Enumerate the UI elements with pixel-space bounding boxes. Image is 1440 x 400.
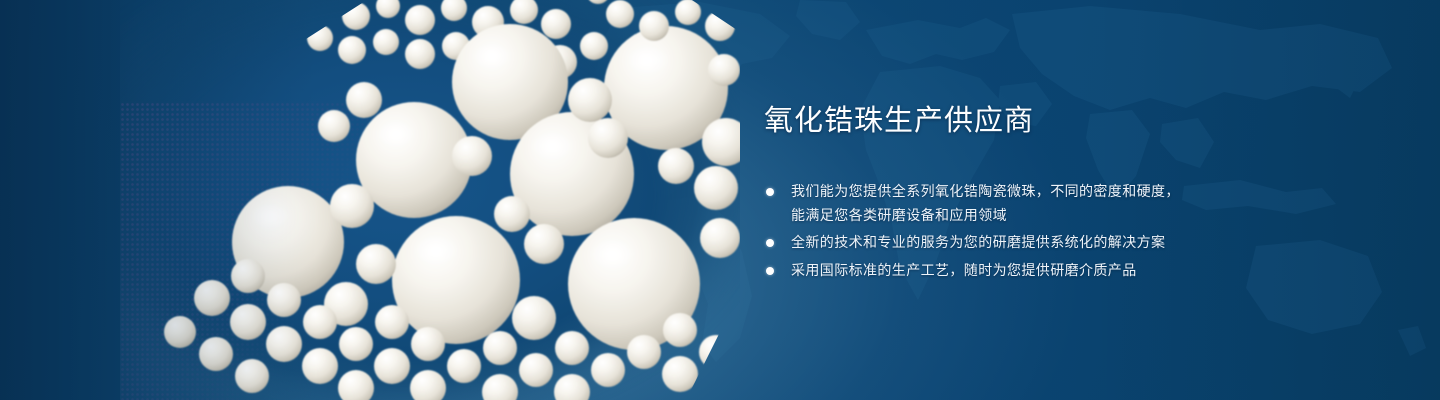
banner-copy: 氧化锆珠生产供应商 我们能为您提供全系列氧化锆陶瓷微珠，不同的密度和硬度， 能满… [764,104,1284,286]
hero-banner: 氧化锆珠生产供应商 我们能为您提供全系列氧化锆陶瓷微珠，不同的密度和硬度， 能满… [0,0,1440,400]
list-item: 我们能为您提供全系列氧化锆陶瓷微珠，不同的密度和硬度， 能满足您各类研磨设备和应… [764,180,1284,227]
dot-bullet-icon [766,188,774,196]
list-item: 采用国际标准的生产工艺，随时为您提供研磨介质产品 [764,259,1284,283]
banner-headline: 氧化锆珠生产供应商 [764,104,1284,138]
benefits-list: 我们能为您提供全系列氧化锆陶瓷微珠，不同的密度和硬度， 能满足您各类研磨设备和应… [764,180,1284,282]
dot-bullet-icon [766,267,774,275]
bullet-line: 能满足您各类研磨设备和应用领域 [791,204,1284,228]
list-item: 全新的技术和专业的服务为您的研磨提供系统化的解决方案 [764,231,1284,255]
bullet-line: 全新的技术和专业的服务为您的研磨提供系统化的解决方案 [791,231,1284,255]
bullet-line: 采用国际标准的生产工艺，随时为您提供研磨介质产品 [791,259,1284,283]
dot-bullet-icon [766,239,774,247]
bullet-line: 我们能为您提供全系列氧化锆陶瓷微珠，不同的密度和硬度， [791,180,1284,204]
